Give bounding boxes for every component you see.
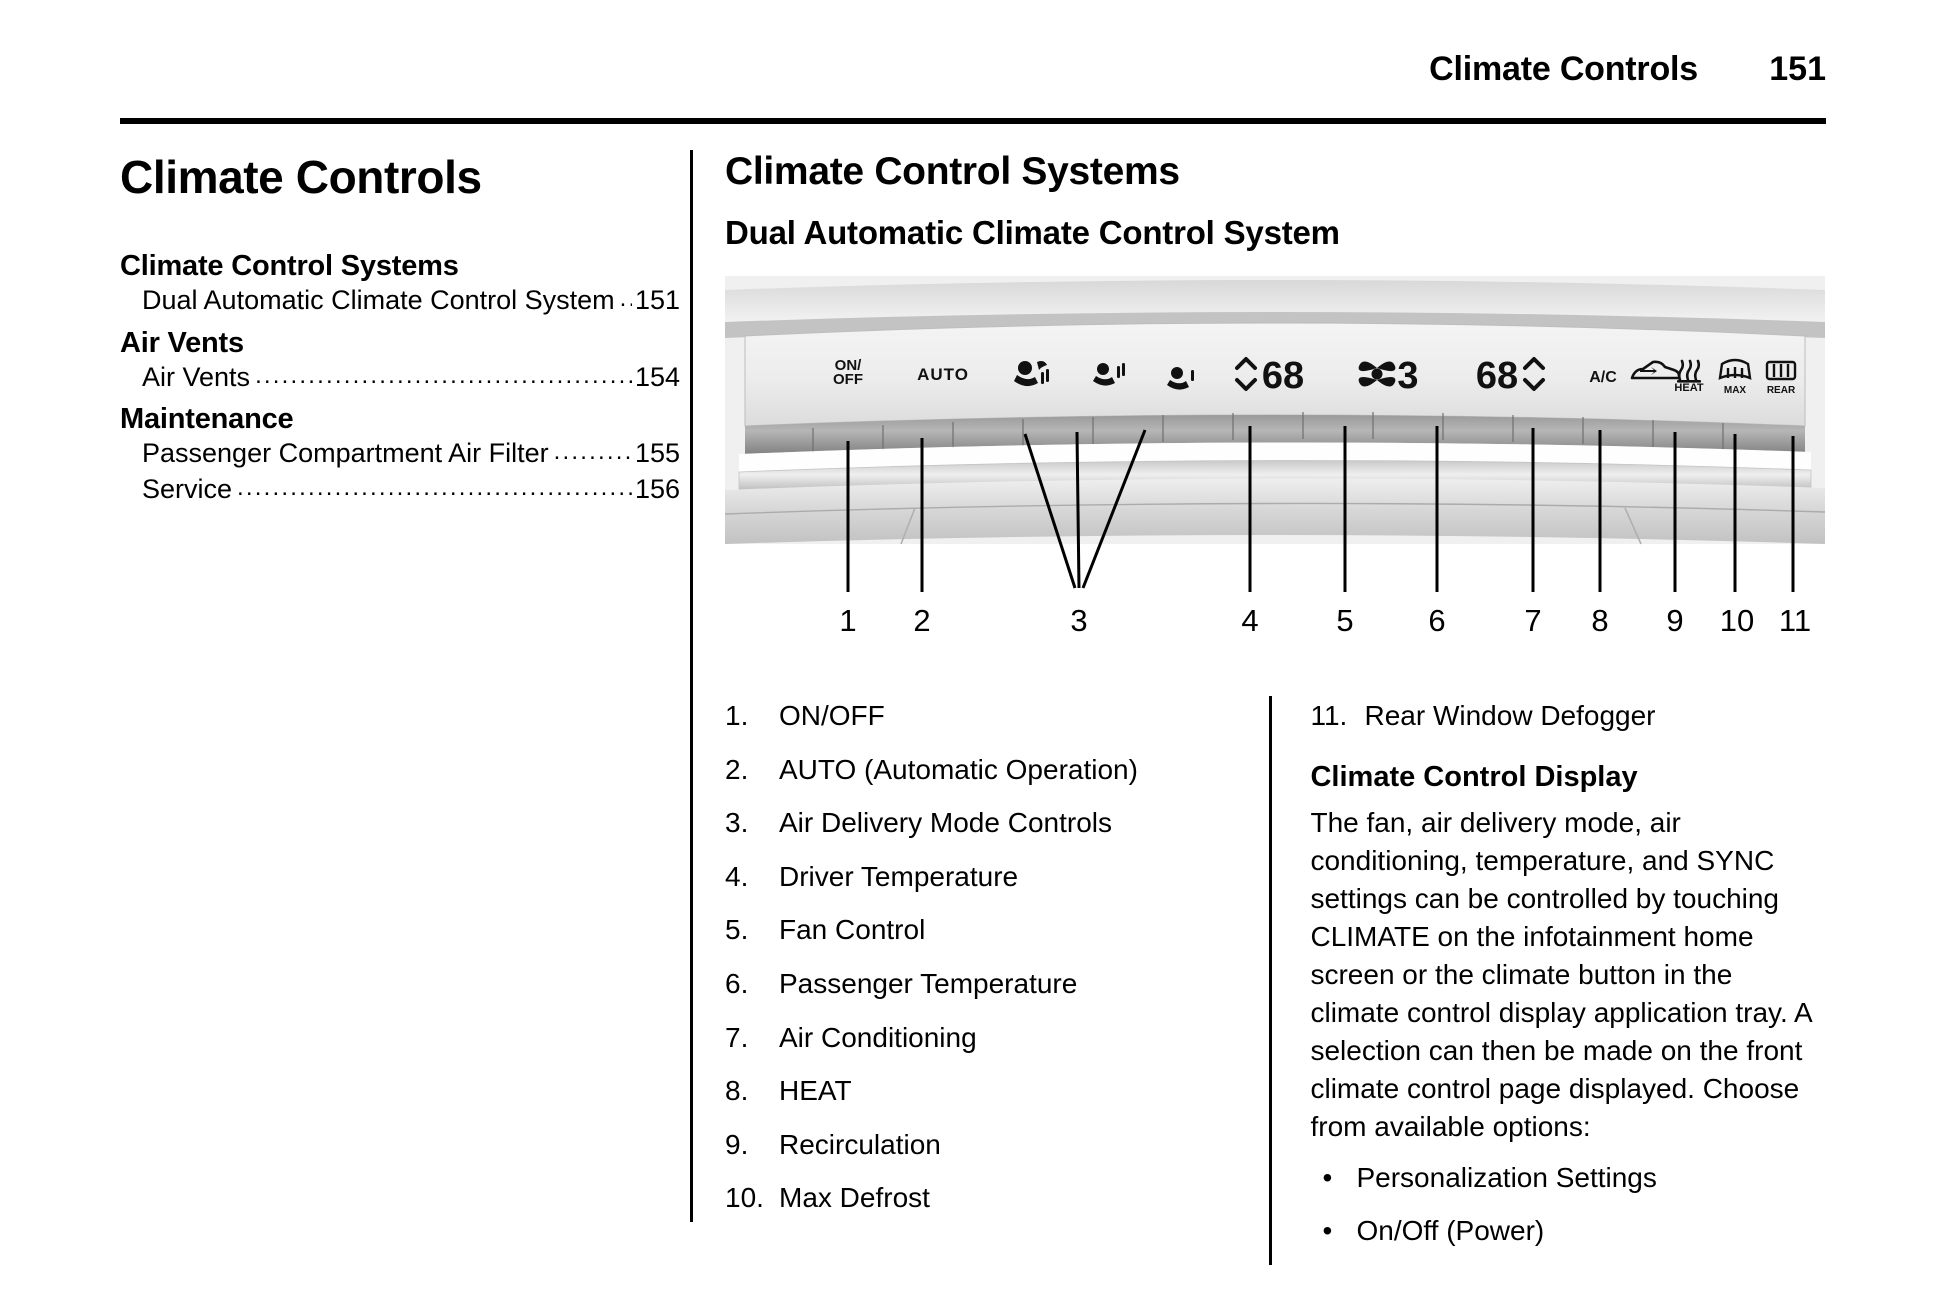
toc-group-title: Air Vents [120, 327, 680, 360]
toc-leader-dots [554, 440, 632, 464]
panel-label-passenger-temp: 68 [1476, 355, 1518, 397]
list-item-label: Driver Temperature [779, 857, 1269, 898]
list-item-label: Fan Control [779, 910, 1269, 951]
panel-label-rear: REAR [1767, 385, 1796, 396]
list-item-index: 10. [725, 1178, 779, 1219]
section-title: Climate Control Systems [725, 150, 1825, 194]
toc-entry[interactable]: Dual Automatic Climate Control System 15… [120, 283, 680, 319]
figure-legend: 1. ON/OFF 2. AUTO (Automatic Operation) … [725, 696, 1825, 1265]
list-item-index: 3. [725, 803, 779, 844]
toc-entry-page: 155 [635, 436, 680, 472]
bullet-list-item: • Personalization Settings [1310, 1158, 1825, 1197]
callout-numbers: 1 2 3 4 5 6 7 8 9 10 11 [839, 603, 1811, 638]
list-item: 6. Passenger Temperature [725, 964, 1269, 1005]
list-item-index: 5. [725, 910, 779, 951]
legend-column-divider [1269, 696, 1272, 1265]
panel-label-ac: A/C [1589, 369, 1617, 386]
panel-label-heat: HEAT [1674, 382, 1703, 394]
toc-entry-page: 151 [635, 283, 680, 319]
toc-leader-dots [237, 476, 632, 500]
list-item-label: AUTO (Automatic Operation) [779, 750, 1269, 791]
callout-number-3: 3 [1070, 603, 1087, 638]
bullet-label: Personalization Settings [1356, 1158, 1825, 1197]
callout-number-10: 10 [1720, 603, 1754, 638]
left-column: Climate Controls Climate Control Systems… [120, 150, 680, 510]
toc-group: Air Vents Air Vents 154 [120, 327, 680, 396]
list-item: 1. ON/OFF [725, 696, 1269, 737]
callout-number-4: 4 [1241, 603, 1258, 638]
list-item-label: Rear Window Defogger [1364, 696, 1825, 737]
callout-number-8: 8 [1591, 603, 1608, 638]
callout-number-1: 1 [839, 603, 856, 638]
toc-entry-label: Air Vents [142, 360, 250, 396]
list-item: 5. Fan Control [725, 910, 1269, 951]
toc-entry-page: 156 [635, 472, 680, 508]
climate-display-paragraph: The fan, air delivery mode, air conditio… [1310, 804, 1825, 1147]
list-item-label: HEAT [779, 1071, 1269, 1112]
panel-label-fan-speed: 3 [1397, 355, 1418, 397]
toc-entry[interactable]: Passenger Compartment Air Filter 155 [120, 436, 680, 472]
toc-entry[interactable]: Air Vents 154 [120, 360, 680, 396]
section-subtitle: Dual Automatic Climate Control System [725, 214, 1825, 252]
header-page-number: 151 [1768, 50, 1826, 89]
list-item: 2. AUTO (Automatic Operation) [725, 750, 1269, 791]
toc-entry-label: Passenger Compartment Air Filter [142, 436, 549, 472]
legend-column-left: 1. ON/OFF 2. AUTO (Automatic Operation) … [725, 696, 1269, 1265]
list-item: 11. Rear Window Defogger [1310, 696, 1825, 737]
toc-entry-label: Service [142, 472, 232, 508]
bullet-marker-icon: • [1310, 1211, 1356, 1250]
panel-label-on-off-line2: OFF [833, 371, 863, 388]
toc-group: Maintenance Passenger Compartment Air Fi… [120, 403, 680, 507]
list-item-label: Max Defrost [779, 1178, 1269, 1219]
list-item-label: Air Conditioning [779, 1018, 1269, 1059]
list-item: 7. Air Conditioning [725, 1018, 1269, 1059]
callout-number-2: 2 [913, 603, 930, 638]
list-item-label: ON/OFF [779, 696, 1269, 737]
toc-entry-page: 154 [635, 360, 680, 396]
list-item: 4. Driver Temperature [725, 857, 1269, 898]
panel-label-max: MAX [1724, 385, 1747, 396]
callout-number-7: 7 [1524, 603, 1541, 638]
heat-base [1677, 380, 1701, 383]
callout-number-5: 5 [1336, 603, 1353, 638]
callout-number-11: 11 [1779, 603, 1811, 638]
list-item-index: 8. [725, 1071, 779, 1112]
toc-leader-dots [620, 287, 632, 311]
column-divider [690, 150, 693, 1222]
callout-number-6: 6 [1428, 603, 1445, 638]
bullet-label: On/Off (Power) [1356, 1211, 1825, 1250]
climate-panel-figure: ON/ OFF AUTO 68 3 68 A/C HEAT MAX [725, 276, 1825, 686]
toc-group-title: Climate Control Systems [120, 250, 680, 283]
list-item: 8. HEAT [725, 1071, 1269, 1112]
header-title: Climate Controls [1429, 50, 1698, 89]
bullet-marker-icon: • [1310, 1158, 1356, 1197]
list-item: 10. Max Defrost [725, 1178, 1269, 1219]
list-item-label: Recirculation [779, 1125, 1269, 1166]
legend-column-right: 11. Rear Window Defogger Climate Control… [1310, 696, 1825, 1265]
climate-display-heading: Climate Control Display [1310, 761, 1825, 794]
chapter-title: Climate Controls [120, 150, 680, 204]
panel-label-driver-temp: 68 [1262, 355, 1304, 397]
toc-group-title: Maintenance [120, 403, 680, 436]
list-item-index: 6. [725, 964, 779, 1005]
right-column: Climate Control Systems Dual Automatic C… [725, 150, 1825, 1265]
header-divider [120, 118, 1826, 124]
toc-entry-label: Dual Automatic Climate Control System [142, 283, 615, 319]
panel-label-auto: AUTO [917, 365, 969, 384]
callout-number-9: 9 [1666, 603, 1683, 638]
list-item-index: 7. [725, 1018, 779, 1059]
toc-entry[interactable]: Service 156 [120, 472, 680, 508]
list-item: 9. Recirculation [725, 1125, 1269, 1166]
list-item-index: 1. [725, 696, 779, 737]
list-item-index: 2. [725, 750, 779, 791]
list-item-index: 11. [1310, 696, 1364, 737]
page-header: Climate Controls 151 [120, 50, 1826, 89]
list-item-label: Air Delivery Mode Controls [779, 803, 1269, 844]
list-item-label: Passenger Temperature [779, 964, 1269, 1005]
list-item: 3. Air Delivery Mode Controls [725, 803, 1269, 844]
manual-page: Climate Controls 151 Climate Controls Cl… [0, 0, 1946, 1291]
toc-leader-dots [255, 364, 632, 388]
list-item-index: 4. [725, 857, 779, 898]
list-item-index: 9. [725, 1125, 779, 1166]
toc-group: Climate Control Systems Dual Automatic C… [120, 250, 680, 319]
bullet-list-item: • On/Off (Power) [1310, 1211, 1825, 1250]
